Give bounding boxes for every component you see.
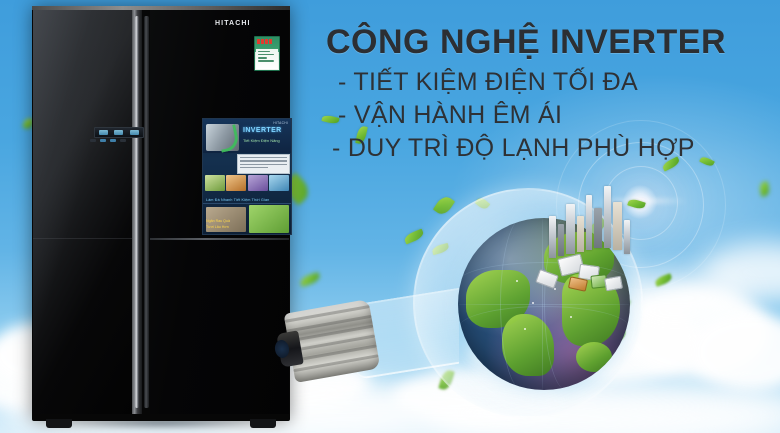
light-bulb-graphic bbox=[283, 188, 639, 433]
list-item: - VẬN HÀNH ÊM ÁI bbox=[338, 99, 774, 132]
list-item: - TIẾT KIỆM ĐIỆN TỐI ĐA bbox=[338, 66, 774, 99]
feature-list: - TIẾT KIỆM ĐIỆN TỐI ĐA - VẬN HÀNH ÊM ÁI… bbox=[326, 66, 774, 165]
energy-label-body bbox=[256, 49, 278, 69]
poster-divider bbox=[203, 203, 291, 204]
fridge-handle-left bbox=[135, 16, 139, 408]
city-skyline-graphic bbox=[543, 206, 655, 292]
refrigerator-product-image: HITACHI HITACHI INVERTER T bbox=[32, 6, 290, 421]
control-indicator-dots bbox=[90, 139, 146, 143]
fridge-drawer-divider bbox=[150, 238, 289, 240]
poster-brand: HITACHI bbox=[273, 121, 288, 125]
energy-stars bbox=[257, 39, 272, 44]
panel-segment bbox=[130, 130, 139, 135]
control-panel[interactable] bbox=[94, 127, 144, 138]
banner-text-block: CÔNG NGHỆ INVERTER - TIẾT KIỆM ĐIỆN TỐI … bbox=[326, 22, 774, 165]
list-item: - DUY TRÌ ĐỘ LẠNH PHÙ HỢP bbox=[332, 132, 774, 165]
fridge-foot-left bbox=[46, 419, 72, 428]
poster-subtitle: Tiết Kiệm Điện Năng bbox=[243, 138, 280, 143]
fridge-left-door bbox=[33, 10, 132, 414]
panel-segment bbox=[114, 130, 123, 135]
hitachi-brand-logo: HITACHI bbox=[215, 20, 251, 27]
poster-footer-line-2: Tươi Lâu Hơn bbox=[206, 225, 229, 230]
poster-text-block bbox=[237, 154, 290, 174]
promo-poster-sticker: HITACHI INVERTER Tiết Kiệm Điện Năng Làm… bbox=[202, 118, 292, 235]
poster-caption: Làm Đá Nhanh Tiết Kiệm Thời Gian bbox=[206, 198, 269, 202]
poster-footer-line-1: Ngăn Rau Quả bbox=[206, 219, 230, 224]
panel-segment bbox=[99, 130, 108, 135]
fridge-foot-right bbox=[250, 419, 276, 428]
fridge-drawer-divider-left bbox=[33, 238, 132, 239]
page-title: CÔNG NGHỆ INVERTER bbox=[326, 22, 774, 62]
fridge-handle-right bbox=[144, 16, 149, 408]
poster-feature-icons bbox=[205, 175, 289, 197]
banner-stage: HITACHI HITACHI INVERTER T bbox=[0, 0, 780, 433]
poster-title: INVERTER bbox=[243, 127, 282, 134]
energy-rating-label bbox=[254, 36, 280, 71]
